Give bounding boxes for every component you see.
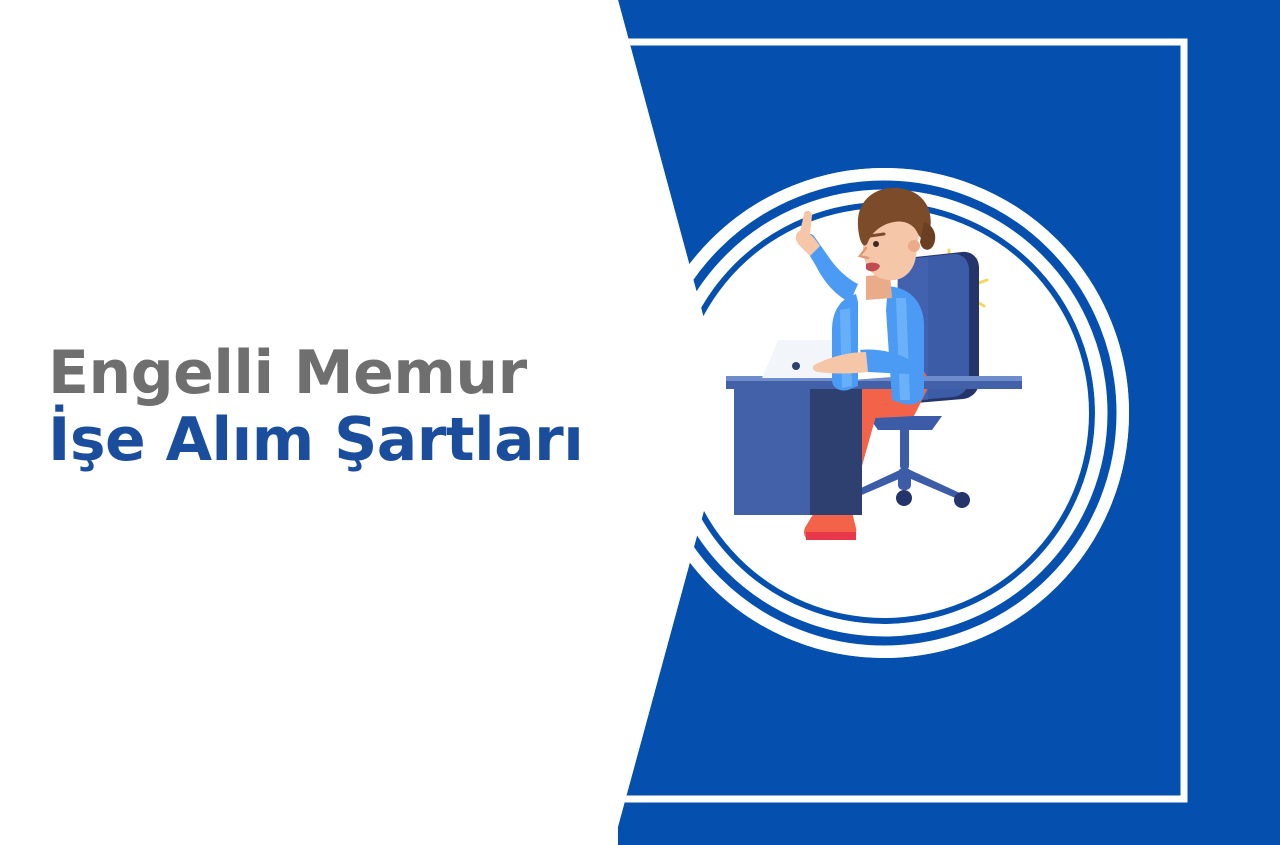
shoe-sole — [806, 532, 856, 540]
ear — [908, 240, 920, 252]
chair-leg-center — [898, 468, 911, 490]
chair-seat-plate — [868, 416, 942, 430]
poster-canvas: Engelli Memur İşe Alım Şartları — [0, 0, 1280, 845]
eyebrow — [870, 234, 884, 236]
eye — [873, 241, 879, 247]
chair-wheel-center — [896, 490, 912, 506]
desk-top — [726, 380, 1022, 389]
cardigan-left-stripe — [840, 308, 852, 388]
headline-block: Engelli Memur İşe Alım Şartları — [48, 340, 608, 474]
headline-line-primary: Engelli Memur — [48, 340, 608, 407]
desk-drawer-side — [810, 389, 862, 515]
man-at-desk-with-idea-illustration — [700, 180, 1060, 600]
laptop-camera-dot — [792, 362, 800, 370]
chair-leg-right — [904, 468, 962, 500]
index-finger — [800, 211, 812, 234]
chair-wheel-right — [954, 492, 970, 508]
headline-line-secondary: İşe Alım Şartları — [48, 407, 608, 474]
